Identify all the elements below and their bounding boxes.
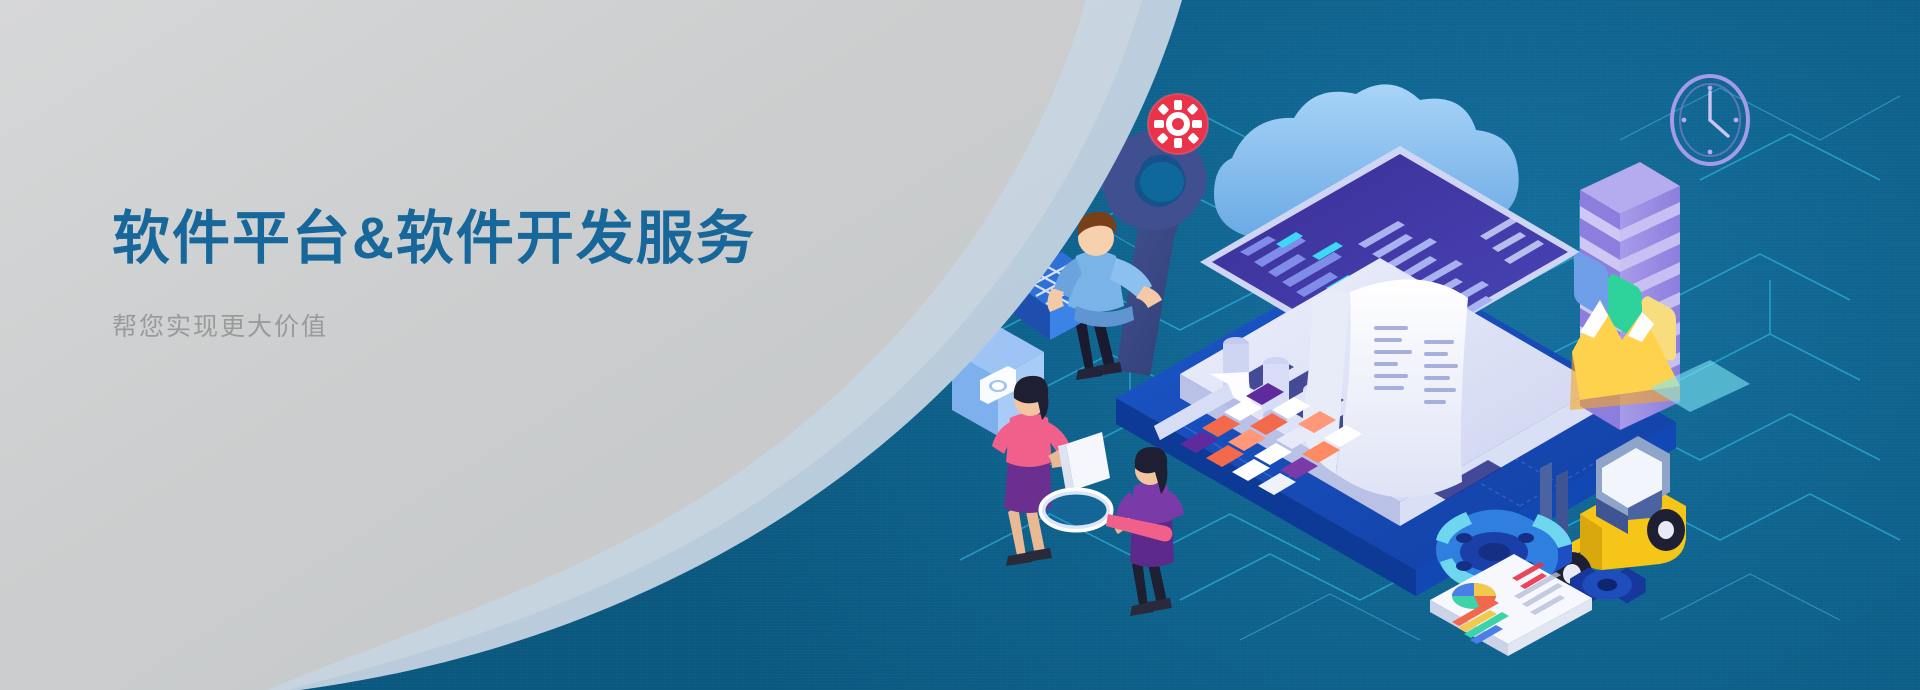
paper-printout [1302, 279, 1468, 497]
hero-copy: 软件平台&软件开发服务 帮您实现更大价值 [112, 205, 832, 343]
curved-panel-overlay [0, 0, 1250, 690]
page-subtitle: 帮您实现更大价值 [112, 307, 832, 343]
hero-banner: 软件平台&软件开发服务 帮您实现更大价值 [0, 0, 1920, 690]
clock-icon [1672, 76, 1748, 164]
page-title: 软件平台&软件开发服务 [112, 205, 832, 273]
